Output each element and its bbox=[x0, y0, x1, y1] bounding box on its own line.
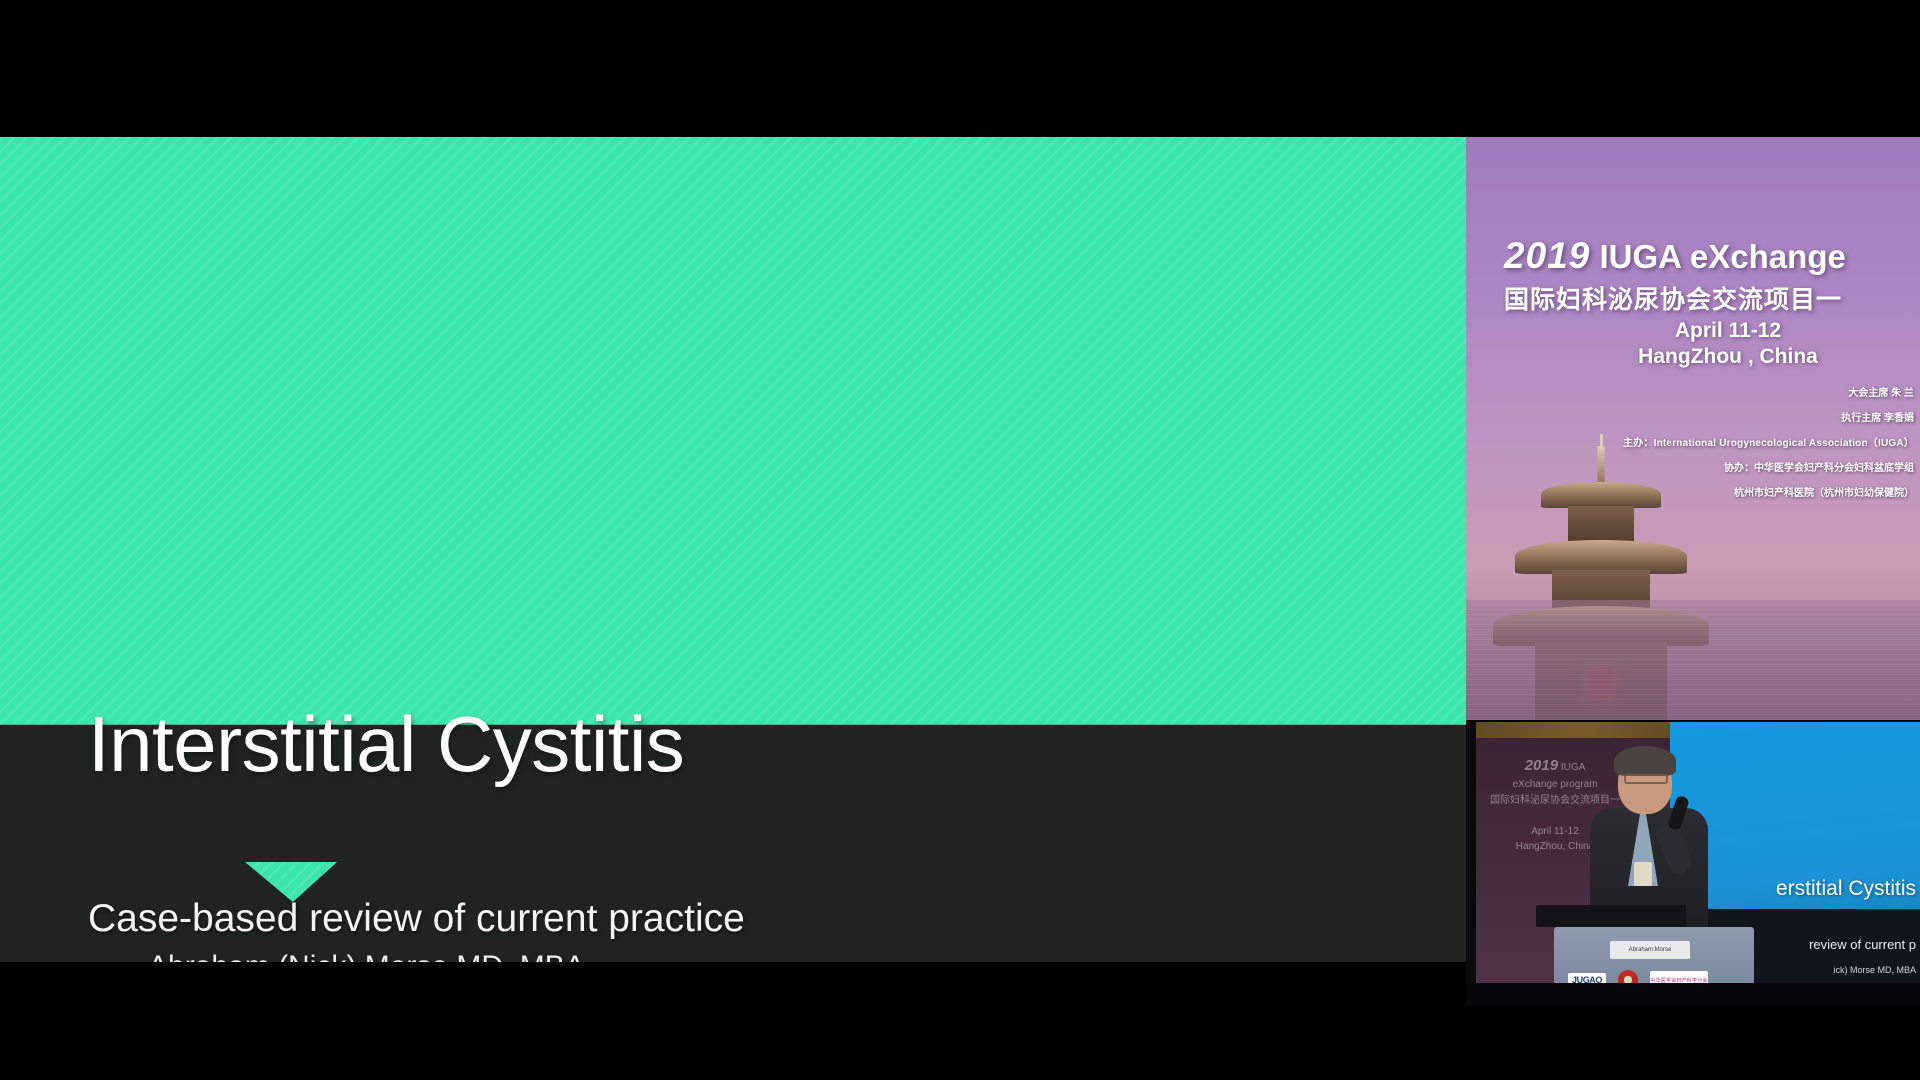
glasses-icon bbox=[1624, 774, 1668, 784]
speaker-nameplate: Abraham Morse bbox=[1610, 941, 1690, 959]
backdrop-date: April 11-12 bbox=[1531, 826, 1579, 837]
poster-city: HangZhou , China bbox=[1466, 345, 1920, 369]
conference-poster-panel[interactable]: 2019 IUGA eXchange 国际妇科泌尿协会交流项目一 April 1… bbox=[1466, 137, 1920, 720]
poster-title-chinese: 国际妇科泌尿协会交流项目一 bbox=[1466, 280, 1920, 316]
slide-accent-band bbox=[0, 137, 1466, 725]
backdrop-year: 2019 bbox=[1525, 757, 1558, 774]
poster-credit-organizer: 主办：International Urogynecological Associ… bbox=[1514, 439, 1914, 449]
video-left-letterbox bbox=[1466, 722, 1476, 1005]
poster-date: April 11-12 bbox=[1466, 319, 1920, 343]
poster-year: 2019 bbox=[1504, 235, 1590, 276]
podium-top-surface bbox=[1536, 905, 1686, 927]
poster-event-name: IUGA eXchange bbox=[1599, 238, 1845, 275]
slide-author: Abraham (Nick) Morse MD, MBA bbox=[148, 950, 585, 962]
poster-credit-exec-chair: 执行主席 李香娟 bbox=[1514, 414, 1914, 424]
poster-credit-hospital: 杭州市妇产科医院（杭州市妇幼保健院） bbox=[1514, 489, 1914, 499]
speaker-video-panel[interactable]: 2019 IUGA eXchange program 国际妇科泌尿协会交流项目一… bbox=[1466, 722, 1920, 1005]
screen-recording-stage: Interstitial Cystitis Case-based review … bbox=[0, 0, 1920, 1080]
poster-credits: 大会主席 朱 兰 执行主席 李香娟 主办：International Urogy… bbox=[1514, 389, 1914, 514]
poster-credit-chair: 大会主席 朱 兰 bbox=[1514, 389, 1914, 399]
video-bottom-letterbox bbox=[1466, 983, 1920, 1005]
poster-credit-coorganizer: 协办：中华医学会妇产科分会妇科盆底学组 bbox=[1514, 464, 1914, 474]
poster-title: 2019 IUGA eXchange bbox=[1466, 235, 1920, 277]
slide-title: Interstitial Cystitis bbox=[88, 699, 684, 790]
lake-water bbox=[1466, 600, 1920, 720]
presentation-slide[interactable]: Interstitial Cystitis Case-based review … bbox=[0, 137, 1466, 962]
slide-subtitle: Case-based review of current practice bbox=[88, 897, 745, 941]
